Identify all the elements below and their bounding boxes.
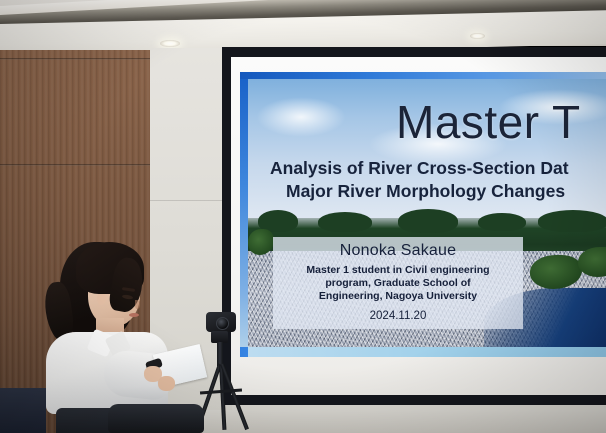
presenter-name: Nonoka Sakaue bbox=[279, 242, 517, 260]
lips bbox=[129, 313, 139, 317]
slide-subtitle-line-1: Analysis of River Cross-Section Dat bbox=[270, 157, 606, 180]
camera-lens-icon bbox=[216, 317, 229, 330]
presenter-affiliation: Master 1 student in Civil engineering pr… bbox=[279, 264, 517, 304]
office-chair bbox=[108, 404, 204, 433]
presenter-info-box: Nonoka Sakaue Master 1 student in Civil … bbox=[273, 237, 523, 329]
downlight-icon bbox=[470, 33, 485, 39]
slide-subtitle-line-2: Major River Morphology Changes bbox=[270, 180, 606, 203]
slide-title: Master T bbox=[396, 95, 581, 149]
presenter-affiliation-line-3: Engineering, Nagoya University bbox=[279, 290, 517, 303]
tree-shape bbox=[478, 213, 526, 231]
tree-shape bbox=[538, 210, 606, 232]
presenter-affiliation-line-1: Master 1 student in Civil engineering bbox=[279, 264, 517, 277]
slide-subtitle: Analysis of River Cross-Section Dat Majo… bbox=[270, 157, 606, 203]
slide-bottom-border bbox=[248, 347, 606, 357]
downlight-icon bbox=[160, 40, 180, 47]
hand bbox=[158, 376, 175, 391]
slide-top-border bbox=[240, 72, 606, 79]
tree-shape bbox=[398, 209, 458, 233]
presentation-slide: Master T Analysis of River Cross-Section… bbox=[240, 72, 606, 357]
nose bbox=[135, 300, 140, 309]
slide-photo-shrub bbox=[578, 247, 606, 277]
wood-wall-seam bbox=[0, 164, 152, 166]
cloud-shape bbox=[256, 97, 346, 137]
presenter-affiliation-line-2: program, Graduate School of bbox=[279, 277, 517, 290]
slide-content-area: Master T Analysis of River Cross-Section… bbox=[248, 79, 606, 347]
tree-shape bbox=[318, 212, 372, 232]
background-equipment-case bbox=[0, 388, 46, 433]
photo-scene: Master T Analysis of River Cross-Section… bbox=[0, 0, 606, 433]
wood-wall-seam bbox=[0, 58, 152, 60]
presentation-date: 2024.11.20 bbox=[279, 310, 517, 322]
